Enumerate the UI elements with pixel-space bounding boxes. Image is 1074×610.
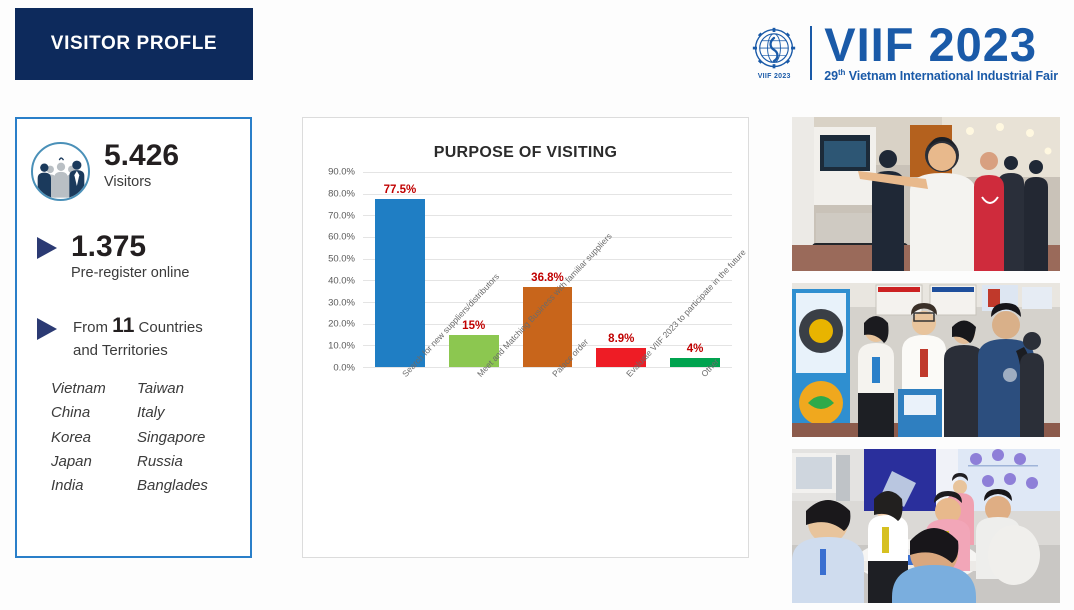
photo-visitors-brochure-image — [792, 283, 1060, 437]
emblem-caption: VIIF 2023 — [758, 73, 791, 80]
y-axis-tick: 50.0% — [328, 254, 355, 265]
logo-sub-prefix: 29 — [824, 69, 838, 83]
purpose-of-visiting-chart: PURPOSE OF VISITING 0.0%10.0%20.0%30.0%4… — [302, 117, 749, 558]
stat-pre-register: 1.375 Pre-register online — [17, 231, 250, 282]
arrow-right-icon — [37, 237, 57, 259]
bar-series: 77.5%15%36.8%8.9%4% — [363, 172, 732, 367]
bar[interactable] — [375, 199, 425, 367]
globe-gear-icon — [751, 26, 797, 72]
countries-summary: From 11 Countries and Territories — [17, 312, 250, 361]
pre-register-count: 1.375 — [71, 231, 189, 263]
bar-slot[interactable]: 4% — [670, 172, 720, 367]
y-axis-tick: 20.0% — [328, 319, 355, 330]
photo-meeting-table-image — [792, 449, 1060, 603]
x-axis-labels: Search for new suppliers/distributorsMee… — [363, 372, 736, 522]
arrow-right-icon — [37, 318, 57, 340]
country-item: Singapore — [137, 426, 223, 450]
country-item: Russia — [137, 450, 223, 474]
country-item: Banglades — [137, 474, 223, 498]
bar-value-label: 4% — [687, 343, 704, 355]
pre-register-label: Pre-register online — [71, 264, 189, 283]
visitors-label: Visitors — [104, 173, 179, 192]
photo-column — [792, 117, 1060, 603]
viif-logo: VIIF 2023 VIIF 2023 29th Vietnam Interna… — [744, 18, 1058, 88]
country-item: Vietnam — [51, 377, 137, 401]
stat-visitors: 5.426 Visitors — [17, 140, 250, 201]
country-item: China — [51, 401, 137, 425]
countries-column-left: Vietnam China Korea Japan India — [51, 377, 137, 498]
bar-slot[interactable]: 15% — [449, 172, 499, 367]
bar-slot[interactable]: 8.9% — [596, 172, 646, 367]
country-item: Italy — [137, 401, 223, 425]
bar-value-label: 15% — [462, 320, 485, 332]
viif-emblem-icon: VIIF 2023 — [744, 26, 804, 80]
y-axis-tick: 40.0% — [328, 275, 355, 286]
y-axis: 0.0%10.0%20.0%30.0%40.0%50.0%60.0%70.0%8… — [311, 172, 359, 368]
plot-area: 77.5%15%36.8%8.9%4% — [363, 172, 732, 368]
visitor-profile-banner: VISITOR PROFLE — [15, 8, 253, 80]
photo-booth-demo-image — [792, 117, 1060, 271]
photo-visitors-brochure — [792, 283, 1060, 437]
chart-plot-wrapper: 0.0%10.0%20.0%30.0%40.0%50.0%60.0%70.0%8… — [311, 172, 736, 368]
y-axis-tick: 30.0% — [328, 297, 355, 308]
photo-booth-demo — [792, 117, 1060, 271]
bar-value-label: 8.9% — [608, 333, 634, 345]
logo-subtitle: 29th Vietnam International Industrial Fa… — [824, 68, 1058, 83]
visitor-stats-panel: 5.426 Visitors 1.375 Pre-register online… — [15, 117, 252, 558]
bar-slot[interactable]: 77.5% — [375, 172, 425, 367]
countries-column-right: Taiwan Italy Singapore Russia Banglades — [137, 377, 223, 498]
y-axis-tick: 90.0% — [328, 167, 355, 178]
photo-meeting-table — [792, 449, 1060, 603]
y-axis-tick: 80.0% — [328, 188, 355, 199]
country-item: India — [51, 474, 137, 498]
logo-main-text: VIIF 2023 — [824, 23, 1058, 66]
people-group-icon — [31, 142, 90, 201]
country-item: Taiwan — [137, 377, 223, 401]
bar-value-label: 77.5% — [384, 184, 417, 196]
y-axis-tick: 0.0% — [333, 363, 355, 374]
countries-list: Vietnam China Korea Japan India Taiwan I… — [17, 377, 250, 498]
y-axis-tick: 70.0% — [328, 210, 355, 221]
chart-title: PURPOSE OF VISITING — [303, 144, 748, 162]
page-title: VISITOR PROFLE — [51, 33, 217, 55]
y-axis-tick: 60.0% — [328, 232, 355, 243]
countries-prefix: From — [73, 319, 108, 336]
country-item: Japan — [51, 450, 137, 474]
countries-count: 11 — [112, 314, 134, 337]
y-axis-tick: 10.0% — [328, 341, 355, 352]
visitors-count: 5.426 — [104, 140, 179, 172]
country-item: Korea — [51, 426, 137, 450]
gridline — [363, 367, 732, 368]
countries-line2: and Territories — [73, 342, 168, 359]
countries-suffix: Countries — [139, 319, 203, 336]
logo-sub-sup: th — [838, 68, 845, 77]
people-silhouettes-icon — [36, 153, 86, 199]
logo-sub-rest: Vietnam International Industrial Fair — [849, 69, 1058, 83]
bar-slot[interactable]: 36.8% — [523, 172, 573, 367]
logo-divider — [810, 26, 812, 80]
